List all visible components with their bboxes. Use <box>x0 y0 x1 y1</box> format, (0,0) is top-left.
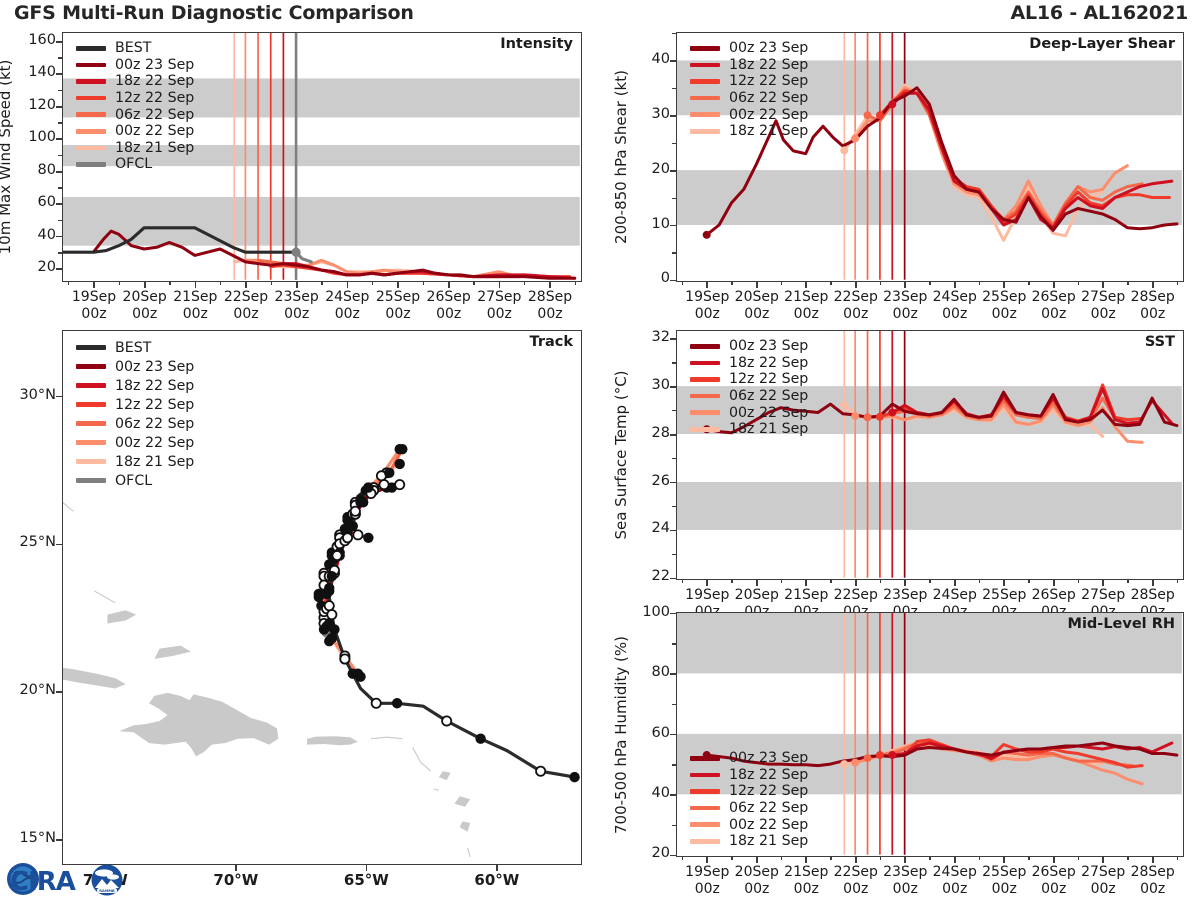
lon-tick-label: 70°W <box>191 872 281 890</box>
x-tick-mark <box>954 579 956 586</box>
run-start-marker <box>876 413 884 421</box>
diagnostic-figure: GFS Multi-Run Diagnostic Comparison AL16… <box>0 0 1200 900</box>
y-tick-label: 40 <box>8 227 56 243</box>
y-axis-label-sst: Sea Surface Temp (°C) <box>612 370 630 539</box>
island-outline <box>468 848 471 857</box>
x-minor-tick <box>271 281 272 285</box>
legend-item[interactable]: 12z 22 Sep <box>690 371 808 388</box>
y-minor-tick <box>672 252 676 253</box>
y-tick-label: 120 <box>8 97 56 113</box>
legend-item[interactable]: 18z 21 Sep <box>76 452 194 471</box>
legend-label: 12z 22 Sep <box>115 397 194 413</box>
y-tick-label: 30 <box>622 106 670 122</box>
track-point-open <box>395 480 404 489</box>
legend-label: 06z 22 Sep <box>115 107 194 123</box>
lon-tick-mark <box>496 864 498 871</box>
y-tick-label: 0 <box>622 270 670 286</box>
track-point-filled <box>329 624 339 634</box>
x-tick-mark <box>904 281 906 288</box>
y-minor-tick <box>672 458 676 459</box>
lat-tick-label: 30°N <box>0 387 56 403</box>
legend-swatch <box>76 459 106 464</box>
legend-label: 18z 22 Sep <box>729 355 808 371</box>
legend-item[interactable]: BEST <box>76 338 194 357</box>
legend-item[interactable]: 06z 22 Sep <box>76 106 194 123</box>
run-start-marker <box>888 751 896 759</box>
x-minor-tick <box>1028 579 1029 583</box>
legend-label: 18z 21 Sep <box>729 833 808 849</box>
y-tick-label: 22 <box>622 568 670 584</box>
x-tick-mark <box>756 856 758 863</box>
legend-item[interactable]: 06z 22 Sep <box>690 90 808 107</box>
y-minor-tick <box>58 155 62 156</box>
x-tick-mark <box>347 281 349 288</box>
x-minor-tick <box>1028 856 1029 860</box>
y-minor-tick <box>672 88 676 89</box>
landmass <box>107 610 136 623</box>
run-start-marker <box>864 754 872 762</box>
legend-sst: 00z 23 Sep18z 22 Sep12z 22 Sep06z 22 Sep… <box>690 338 808 438</box>
y-minor-tick <box>58 252 62 253</box>
y-tick-label: 20 <box>622 845 670 861</box>
track-point-filled <box>363 482 373 492</box>
y-tick-mark <box>56 268 62 270</box>
x-tick-mark <box>1102 856 1104 863</box>
legend-label: 00z 23 Sep <box>729 750 808 766</box>
legend-label: 06z 22 Sep <box>729 800 808 816</box>
legend-item[interactable]: OFCL <box>76 156 194 173</box>
run-start-marker <box>840 760 848 768</box>
track-point-open <box>372 699 381 708</box>
legend-item[interactable]: 00z 22 Sep <box>690 106 808 123</box>
x-tick-mark <box>93 281 95 288</box>
legend-swatch <box>76 129 106 134</box>
y-minor-tick <box>58 90 62 91</box>
track-point-filled <box>324 636 334 646</box>
svg-text:CIRA: CIRA <box>10 867 76 897</box>
x-minor-tick <box>781 281 782 285</box>
x-minor-tick <box>220 281 221 285</box>
x-minor-tick <box>119 281 120 285</box>
run-start-marker <box>876 751 884 759</box>
legend-shear: 00z 23 Sep18z 22 Sep12z 22 Sep06z 22 Sep… <box>690 40 808 140</box>
track-point-open <box>442 716 451 725</box>
panel-title-rh: Mid-Level RH <box>676 616 1175 632</box>
legend-item[interactable]: 00z 22 Sep <box>76 123 194 140</box>
legend-label: 00z 23 Sep <box>729 40 808 56</box>
x-tick-mark <box>805 281 807 288</box>
legend-swatch <box>690 773 720 778</box>
y-tick-label: 100 <box>622 604 670 620</box>
track-point-filled <box>392 698 402 708</box>
storm-id-label: AL16 - AL162021 <box>1010 2 1188 24</box>
run-start-marker <box>851 759 859 767</box>
y-tick-mark <box>670 170 676 172</box>
legend-item[interactable]: 00z 23 Sep <box>690 40 808 57</box>
y-tick-mark <box>670 734 676 736</box>
legend-swatch <box>690 344 720 349</box>
landmass <box>439 771 451 780</box>
y-tick-label: 40 <box>622 51 670 67</box>
legend-label: 06z 22 Sep <box>729 388 808 404</box>
y-tick-mark <box>670 434 676 436</box>
legend-swatch <box>690 839 720 844</box>
legend-swatch <box>690 112 720 117</box>
legend-item[interactable]: 18z 21 Sep <box>690 833 808 850</box>
track-point-open <box>536 767 545 776</box>
lat-tick-label: 20°N <box>0 682 56 698</box>
y-tick-label: 10 <box>622 216 670 232</box>
track-point-filled <box>569 772 579 782</box>
x-minor-tick <box>1127 856 1128 860</box>
legend-label: 18z 21 Sep <box>115 454 194 470</box>
landmass <box>63 668 126 689</box>
lon-tick-mark <box>235 864 237 871</box>
x-tick-mark <box>195 281 197 288</box>
legend-item[interactable]: 12z 22 Sep <box>76 90 194 107</box>
legend-item[interactable]: 18z 22 Sep <box>690 767 808 784</box>
track-point-filled <box>475 734 485 744</box>
x-minor-tick <box>880 579 881 583</box>
landmass <box>460 821 470 831</box>
x-tick-mark <box>397 281 399 288</box>
legend-label: 18z 21 Sep <box>729 421 808 437</box>
x-minor-tick <box>1078 281 1079 285</box>
x-minor-tick <box>372 281 373 285</box>
legend-item[interactable]: 00z 22 Sep <box>76 433 194 452</box>
ofcl-marker <box>291 248 300 257</box>
x-tick-mark <box>144 281 146 288</box>
legend-label: 18z 22 Sep <box>115 378 194 394</box>
legend-swatch <box>76 46 106 51</box>
legend-swatch <box>690 377 720 382</box>
x-minor-tick <box>929 281 930 285</box>
legend-swatch <box>76 383 106 388</box>
x-tick-mark <box>245 281 247 288</box>
x-tick-mark <box>706 579 708 586</box>
legend-label: 12z 22 Sep <box>729 73 808 89</box>
x-minor-tick <box>979 856 980 860</box>
legend-item[interactable]: 18z 22 Sep <box>690 57 808 74</box>
legend-label: 00z 23 Sep <box>115 57 194 73</box>
legend-label: 00z 22 Sep <box>729 405 808 421</box>
legend-swatch <box>76 440 106 445</box>
x-tick-mark <box>756 579 758 586</box>
x-tick-mark <box>954 856 956 863</box>
legend-swatch <box>690 410 720 415</box>
legend-swatch <box>76 421 106 426</box>
x-minor-tick <box>1078 856 1079 860</box>
y-minor-tick <box>58 220 62 221</box>
legend-item[interactable]: 06z 22 Sep <box>690 800 808 817</box>
x-minor-tick <box>929 856 930 860</box>
legend-swatch <box>690 427 720 432</box>
y-tick-label: 32 <box>622 329 670 345</box>
legend-swatch <box>76 96 106 101</box>
x-tick-mark <box>296 281 298 288</box>
x-minor-tick <box>731 281 732 285</box>
x-tick-mark <box>855 281 857 288</box>
x-tick-mark <box>706 281 708 288</box>
x-tick-mark <box>1152 281 1154 288</box>
legend-label: 18z 22 Sep <box>115 73 194 89</box>
x-minor-tick <box>524 281 525 285</box>
track-point-open <box>353 530 362 539</box>
legend-item[interactable]: BEST <box>76 40 194 57</box>
y-tick-mark <box>670 855 676 857</box>
lat-tick-label: 15°N <box>0 830 56 846</box>
x-tick-mark <box>448 281 450 288</box>
x-minor-tick <box>830 579 831 583</box>
track-point-filled <box>384 468 394 478</box>
x-tick-label: 28Sep00z <box>1117 864 1189 897</box>
legend-item[interactable]: 18z 22 Sep <box>76 73 194 90</box>
run-start-marker <box>840 401 848 409</box>
x-tick-mark <box>855 856 857 863</box>
legend-item[interactable]: 12z 22 Sep <box>690 73 808 90</box>
legend-swatch <box>76 112 106 117</box>
x-tick-mark <box>805 579 807 586</box>
y-tick-label: 40 <box>622 785 670 801</box>
island-outline <box>413 748 431 772</box>
legend-label: 18z 22 Sep <box>729 767 808 783</box>
lat-tick-mark <box>56 691 62 693</box>
track-point-open <box>379 480 388 489</box>
legend-item[interactable]: 18z 21 Sep <box>76 140 194 157</box>
x-tick-mark <box>499 281 501 288</box>
lat-tick-mark <box>56 396 62 398</box>
y-tick-mark <box>670 578 676 580</box>
legend-swatch <box>76 63 106 68</box>
run-start-marker <box>864 111 872 119</box>
track-point-filled <box>327 571 337 581</box>
y-tick-label: 28 <box>622 425 670 441</box>
y-tick-mark <box>56 138 62 140</box>
x-tick-mark <box>1102 281 1104 288</box>
legend-swatch <box>76 162 106 167</box>
legend-rh: 00z 23 Sep18z 22 Sep12z 22 Sep06z 22 Sep… <box>690 750 808 850</box>
legend-label: 00z 22 Sep <box>729 107 808 123</box>
legend-item[interactable]: 06z 22 Sep <box>690 388 808 405</box>
x-minor-tick <box>781 579 782 583</box>
run-start-marker <box>840 146 848 154</box>
legend-label: 00z 22 Sep <box>729 817 808 833</box>
landmass <box>307 736 358 745</box>
y-minor-tick <box>672 704 676 705</box>
y-tick-label: 60 <box>8 194 56 210</box>
legend-swatch <box>76 364 106 369</box>
y-minor-tick <box>672 198 676 199</box>
legend-intensity: BEST00z 23 Sep18z 22 Sep12z 22 Sep06z 22… <box>76 40 194 173</box>
legend-swatch <box>690 79 720 84</box>
run-start-marker <box>851 134 859 142</box>
track-point-open <box>343 533 352 542</box>
legend-swatch <box>690 96 720 101</box>
x-minor-tick <box>979 579 980 583</box>
legend-swatch <box>76 478 106 483</box>
legend-item[interactable]: 00z 23 Sep <box>690 750 808 767</box>
y-tick-mark <box>670 115 676 117</box>
island-outline <box>63 496 73 511</box>
x-minor-tick <box>830 856 831 860</box>
x-minor-tick <box>575 281 576 285</box>
x-minor-tick <box>68 281 69 285</box>
x-tick-mark <box>1102 579 1104 586</box>
track-point-filled <box>363 533 373 543</box>
x-tick-mark <box>1053 579 1055 586</box>
x-minor-tick <box>929 579 930 583</box>
legend-label: OFCL <box>115 473 152 489</box>
x-minor-tick <box>473 281 474 285</box>
y-tick-label: 24 <box>622 520 670 536</box>
run-start-marker <box>703 231 711 239</box>
track-point-filled <box>348 669 358 679</box>
y-tick-mark <box>670 225 676 227</box>
y-tick-mark <box>670 60 676 62</box>
track-point-open <box>332 551 341 560</box>
lon-tick-mark <box>366 864 368 871</box>
y-tick-mark <box>670 530 676 532</box>
y-tick-mark <box>670 794 676 796</box>
legend-item[interactable]: 00z 23 Sep <box>76 57 194 74</box>
y-tick-label: 20 <box>8 259 56 275</box>
legend-label: 12z 22 Sep <box>115 90 194 106</box>
x-tick-mark <box>954 281 956 288</box>
legend-item[interactable]: 00z 22 Sep <box>690 404 808 421</box>
legend-label: 00z 23 Sep <box>729 338 808 354</box>
legend-item[interactable]: 18z 22 Sep <box>76 376 194 395</box>
track-point-filled <box>397 444 407 454</box>
run-start-marker <box>888 408 896 416</box>
y-tick-mark <box>56 106 62 108</box>
legend-label: 06z 22 Sep <box>115 416 194 432</box>
legend-item[interactable]: 18z 21 Sep <box>690 421 808 438</box>
legend-item[interactable]: 00z 23 Sep <box>76 357 194 376</box>
x-tick-label: 28Sep00z <box>1117 289 1189 322</box>
x-minor-tick <box>1177 856 1178 860</box>
x-minor-tick <box>682 281 683 285</box>
y-tick-label: 80 <box>622 664 670 680</box>
y-minor-tick <box>58 122 62 123</box>
legend-item[interactable]: 12z 22 Sep <box>690 783 808 800</box>
x-tick-mark <box>1152 579 1154 586</box>
legend-label: OFCL <box>115 156 152 172</box>
x-minor-tick <box>880 281 881 285</box>
legend-label: 18z 21 Sep <box>115 140 194 156</box>
x-minor-tick <box>682 856 683 860</box>
island-outline <box>371 737 402 739</box>
y-minor-tick <box>672 410 676 411</box>
y-tick-label: 20 <box>622 161 670 177</box>
legend-item[interactable]: 18z 22 Sep <box>690 355 808 372</box>
x-minor-tick <box>682 579 683 583</box>
legend-swatch <box>690 394 720 399</box>
track-point-open <box>325 601 334 610</box>
y-tick-label: 26 <box>622 473 670 489</box>
x-tick-mark <box>1053 856 1055 863</box>
y-minor-tick <box>672 506 676 507</box>
legend-item[interactable]: 12z 22 Sep <box>76 395 194 414</box>
legend-swatch <box>690 789 720 794</box>
lat-tick-mark <box>56 839 62 841</box>
legend-label: 18z 22 Sep <box>729 57 808 73</box>
legend-item[interactable]: OFCL <box>76 471 194 490</box>
x-minor-tick <box>321 281 322 285</box>
track-point-filled <box>348 521 358 531</box>
island-outline <box>434 789 439 791</box>
y-tick-mark <box>670 673 676 675</box>
legend-swatch <box>690 361 720 366</box>
run-start-marker <box>876 111 884 119</box>
run-start-marker <box>888 100 896 108</box>
legend-swatch <box>690 822 720 827</box>
lon-tick-label: 60°W <box>452 872 542 890</box>
landmass <box>119 693 278 756</box>
x-tick-mark <box>706 856 708 863</box>
y-tick-mark <box>670 613 676 615</box>
y-tick-mark <box>56 203 62 205</box>
legend-item[interactable]: 00z 22 Sep <box>690 816 808 833</box>
legend-swatch <box>690 46 720 51</box>
x-tick-mark <box>805 856 807 863</box>
legend-label: 06z 22 Sep <box>729 90 808 106</box>
legend-item[interactable]: 18z 21 Sep <box>690 123 808 140</box>
legend-label: 12z 22 Sep <box>729 783 808 799</box>
x-minor-tick <box>1177 281 1178 285</box>
x-minor-tick <box>880 856 881 860</box>
y-tick-mark <box>670 280 676 282</box>
x-minor-tick <box>1078 579 1079 583</box>
svg-text:RAMMB: RAMMB <box>99 889 115 893</box>
legend-swatch <box>76 402 106 407</box>
landmass <box>154 646 190 659</box>
run-start-marker <box>851 412 859 420</box>
island-outline <box>94 591 115 603</box>
x-minor-tick <box>1177 579 1178 583</box>
y-minor-tick <box>672 554 676 555</box>
legend-item[interactable]: 06z 22 Sep <box>76 414 194 433</box>
x-minor-tick <box>731 579 732 583</box>
x-tick-mark <box>1003 281 1005 288</box>
x-minor-tick <box>1127 579 1128 583</box>
track-point-filled <box>395 459 405 469</box>
lat-tick-label: 25°N <box>0 534 56 550</box>
x-minor-tick <box>830 281 831 285</box>
y-minor-tick <box>672 143 676 144</box>
y-tick-mark <box>56 73 62 75</box>
y-minor-tick <box>672 362 676 363</box>
track-point-open <box>327 610 336 619</box>
page-title: GFS Multi-Run Diagnostic Comparison <box>14 2 414 24</box>
y-tick-mark <box>56 171 62 173</box>
y-minor-tick <box>672 33 676 34</box>
legend-item[interactable]: 00z 23 Sep <box>690 338 808 355</box>
x-tick-mark <box>904 856 906 863</box>
legend-swatch <box>690 756 720 761</box>
x-tick-mark <box>756 281 758 288</box>
legend-label: 00z 22 Sep <box>115 435 194 451</box>
x-minor-tick <box>169 281 170 285</box>
legend-label: 12z 22 Sep <box>729 371 808 387</box>
legend-label: BEST <box>115 340 151 356</box>
lon-tick-label: 65°W <box>321 872 411 890</box>
cira-logo: RAMMB CIRA <box>4 855 128 899</box>
x-minor-tick <box>731 856 732 860</box>
x-minor-tick <box>1127 281 1128 285</box>
y-tick-label: 30 <box>622 377 670 393</box>
legend-label: 00z 23 Sep <box>115 359 194 375</box>
x-tick-mark <box>1053 281 1055 288</box>
